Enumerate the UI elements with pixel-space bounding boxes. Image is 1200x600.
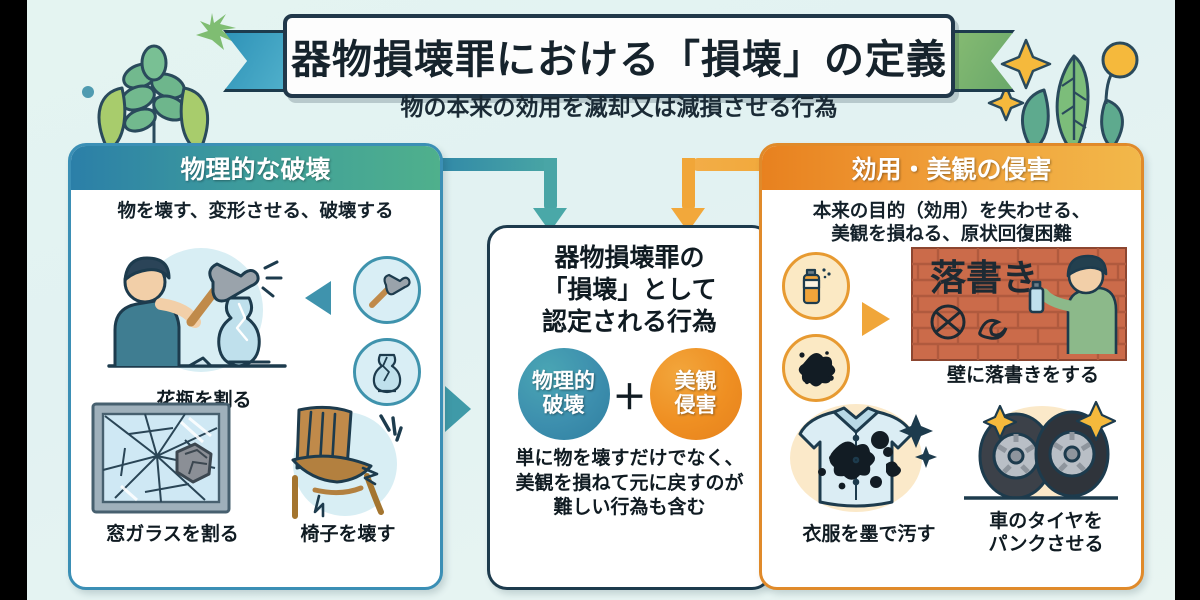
right-panel-description: 本来の目的（効用）を失わせる、 美観を損ねる、原状回復困難 (762, 190, 1141, 248)
right-item-graffiti-label: 壁に落書きをする (910, 364, 1136, 387)
page-title: 器物損壊罪における「損壊」の定義 (291, 27, 947, 85)
left-item-window: 窓ガラスを割る (85, 398, 260, 546)
graffiti-wall-illustration: 落書き (910, 246, 1128, 364)
right-item-tires-label: 車のタイヤを パンクさせる (954, 510, 1138, 556)
right-item-tires-label-line1: 車のタイヤを (954, 510, 1138, 533)
flat-tires-illustration (954, 398, 1124, 510)
left-panel-inner-arrow (305, 281, 331, 315)
aesthetic-harm-circle: 美観 侵害 (650, 348, 742, 440)
right-item-tires: 車のタイヤを パンクさせる (954, 398, 1138, 556)
right-item-shirt: 衣服を墨で汚す (776, 398, 962, 546)
graffiti-wall-text: 落書き (930, 258, 1038, 299)
right-panel: 効用・美観の侵害 本来の目的（効用）を失わせる、 美観を損ねる、原状回復困難 (759, 143, 1144, 590)
cracked-vase-icon (353, 338, 421, 406)
physical-destruction-circle: 物理的 破壊 (518, 348, 610, 440)
left-item-chair-label: 椅子を壊す (263, 523, 433, 546)
right-description-line1: 本来の目的（効用）を失わせる、 (768, 200, 1135, 223)
center-footer-line1: 単に物を壊すだけでなく、 (500, 446, 759, 471)
center-footer-line2: 美観を損ねて元に戻すのが (500, 471, 759, 496)
left-item-vase: 花瓶を割る (89, 244, 319, 412)
physical-circle-line1: 物理的 (532, 370, 595, 394)
broken-chair-illustration (263, 398, 413, 523)
right-item-shirt-label: 衣服を墨で汚す (776, 523, 962, 546)
center-panel-footer: 単に物を壊すだけでなく、 美観を損ねて元に戻すのが 難しい行為も含む (490, 440, 769, 520)
right-item-tires-label-line2: パンクさせる (954, 533, 1138, 556)
center-panel-heading: 器物損壊罪の 「損壊」として 認定される行為 (490, 228, 769, 344)
canvas: 器物損壊罪における「損壊」の定義 物の本来の効用を滅却又は減損させる行為 物理的… (27, 0, 1175, 600)
right-description-line2: 美観を損ねる、原状回復困難 (768, 223, 1135, 246)
broken-window-with-rock-illustration (85, 398, 237, 523)
center-heading-line2: 「損壊」として (498, 274, 761, 306)
left-item-chair: 椅子を壊す (263, 398, 433, 546)
infographic-root: 器物損壊罪における「損壊」の定義 物の本来の効用を滅却又は減損させる行為 物理的… (0, 0, 1200, 600)
center-heading-line1: 器物損壊罪の (498, 242, 761, 274)
aesthetic-circle-line1: 美観 (675, 370, 717, 394)
left-panel-description: 物を壊す、変形させる、破壊する (71, 190, 440, 225)
center-footer-line3: 難しい行為も含む (500, 495, 759, 520)
title-box: 器物損壊罪における「損壊」の定義 (283, 14, 955, 98)
center-circles: 物理的 破壊 ＋ 美観 侵害 (490, 348, 769, 440)
stained-shirt-illustration (776, 398, 942, 523)
left-arrow-into-center (445, 386, 471, 432)
plus-operator: ＋ (613, 370, 647, 419)
physical-circle-line2: 破壊 (543, 394, 585, 418)
center-heading-line3: 認定される行為 (498, 306, 761, 338)
spray-can-icon (782, 252, 850, 320)
left-item-window-label: 窓ガラスを割る (85, 523, 260, 546)
person-smashing-vase-illustration (89, 244, 309, 389)
right-panel-heading: 効用・美観の侵害 (851, 150, 1051, 186)
page-subtitle: 物の本来の効用を滅却又は減損させる行為 (223, 88, 1015, 122)
left-panel-heading: 物理的な破壊 (180, 150, 330, 186)
right-panel-inner-arrow (862, 302, 890, 336)
left-panel-header: 物理的な破壊 (71, 146, 440, 190)
right-item-graffiti: 落書き 壁に落書きをする (910, 246, 1136, 387)
right-panel-header: 効用・美観の侵害 (762, 146, 1141, 190)
hammer-icon (353, 256, 421, 324)
ink-splatter-icon (782, 334, 850, 402)
center-panel: 器物損壊罪の 「損壊」として 認定される行為 物理的 破壊 ＋ 美観 侵害 単に… (487, 225, 772, 590)
left-panel: 物理的な破壊 物を壊す、変形させる、破壊する (68, 143, 443, 590)
aesthetic-circle-line2: 侵害 (675, 394, 717, 418)
